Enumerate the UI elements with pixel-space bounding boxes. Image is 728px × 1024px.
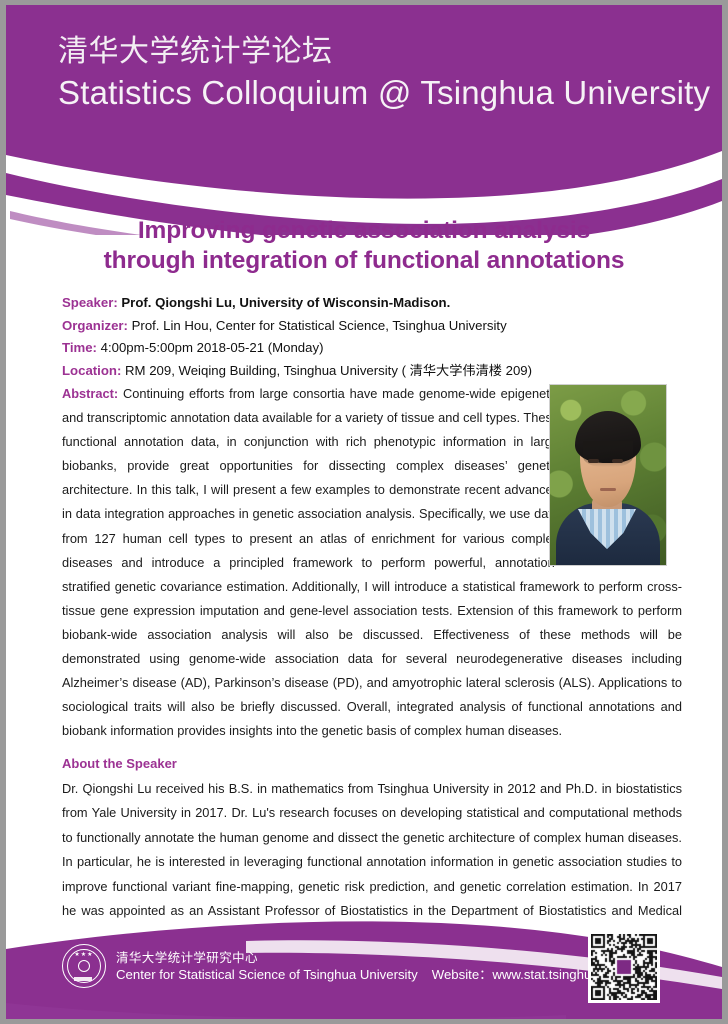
talk-title: Improving genetic association analysis t… <box>42 216 686 276</box>
qr-code[interactable] <box>588 931 660 1003</box>
speaker-photo <box>549 384 667 566</box>
meta-label-speaker: Speaker: <box>62 295 118 310</box>
poster-header: 清华大学统计学论坛 Statistics Colloquium @ Tsingh… <box>6 5 722 235</box>
photo-eye-left <box>588 459 599 463</box>
footer-org-en-line: Center for Statistical Science of Tsingh… <box>116 966 642 984</box>
meta-row-speaker: Speaker: Prof. Qiongshi Lu, University o… <box>62 292 682 315</box>
meta-label-organizer: Organizer: <box>62 318 128 333</box>
meta-value-location: RM 209, Weiqing Building, Tsinghua Unive… <box>125 363 532 378</box>
photo-mouth <box>600 488 616 491</box>
tsinghua-seal-icon: ★★★ <box>62 944 106 988</box>
header-title-cn: 清华大学统计学论坛 <box>58 33 710 71</box>
meta-label-location: Location: <box>62 363 121 378</box>
poster-page: 清华大学统计学论坛 Statistics Colloquium @ Tsingh… <box>6 5 722 1019</box>
poster-footer: ★★★ 清华大学统计学研究中心 Center for Statistical S… <box>6 919 722 1019</box>
seal-base <box>74 977 92 981</box>
talk-meta-list: Speaker: Prof. Qiongshi Lu, University o… <box>62 292 682 382</box>
footer-org-cn: 清华大学统计学研究中心 <box>116 949 642 966</box>
qr-code-canvas <box>591 934 657 1000</box>
meta-row-time: Time: 4:00pm-5:00pm 2018-05-21 (Monday) <box>62 337 682 360</box>
abstract-label: Abstract: <box>62 386 118 401</box>
meta-label-time: Time: <box>62 340 97 355</box>
meta-value-speaker: Prof. Qiongshi Lu, University of Wiscons… <box>121 295 450 310</box>
footer-org-block: ★★★ 清华大学统计学研究中心 Center for Statistical S… <box>62 944 642 988</box>
meta-value-time: 4:00pm-5:00pm 2018-05-21 (Monday) <box>101 340 324 355</box>
photo-eye-right <box>612 459 623 463</box>
footer-org-en: Center for Statistical Science of Tsingh… <box>116 967 418 982</box>
meta-value-organizer: Prof. Lin Hou, Center for Statistical Sc… <box>132 318 507 333</box>
about-speaker-heading: About the Speaker <box>62 754 177 773</box>
seal-stars: ★★★ <box>63 952 105 958</box>
header-title-en: Statistics Colloquium @ Tsinghua Univers… <box>58 71 710 115</box>
talk-title-line-2: through integration of functional annota… <box>42 246 686 276</box>
meta-row-organizer: Organizer: Prof. Lin Hou, Center for Sta… <box>62 315 682 338</box>
footer-org-text: 清华大学统计学研究中心 Center for Statistical Scien… <box>116 949 642 984</box>
talk-title-line-1: Improving genetic association analysis <box>42 216 686 246</box>
header-title-block: 清华大学统计学论坛 Statistics Colloquium @ Tsingh… <box>58 33 710 115</box>
meta-row-location: Location: RM 209, Weiqing Building, Tsin… <box>62 360 682 383</box>
